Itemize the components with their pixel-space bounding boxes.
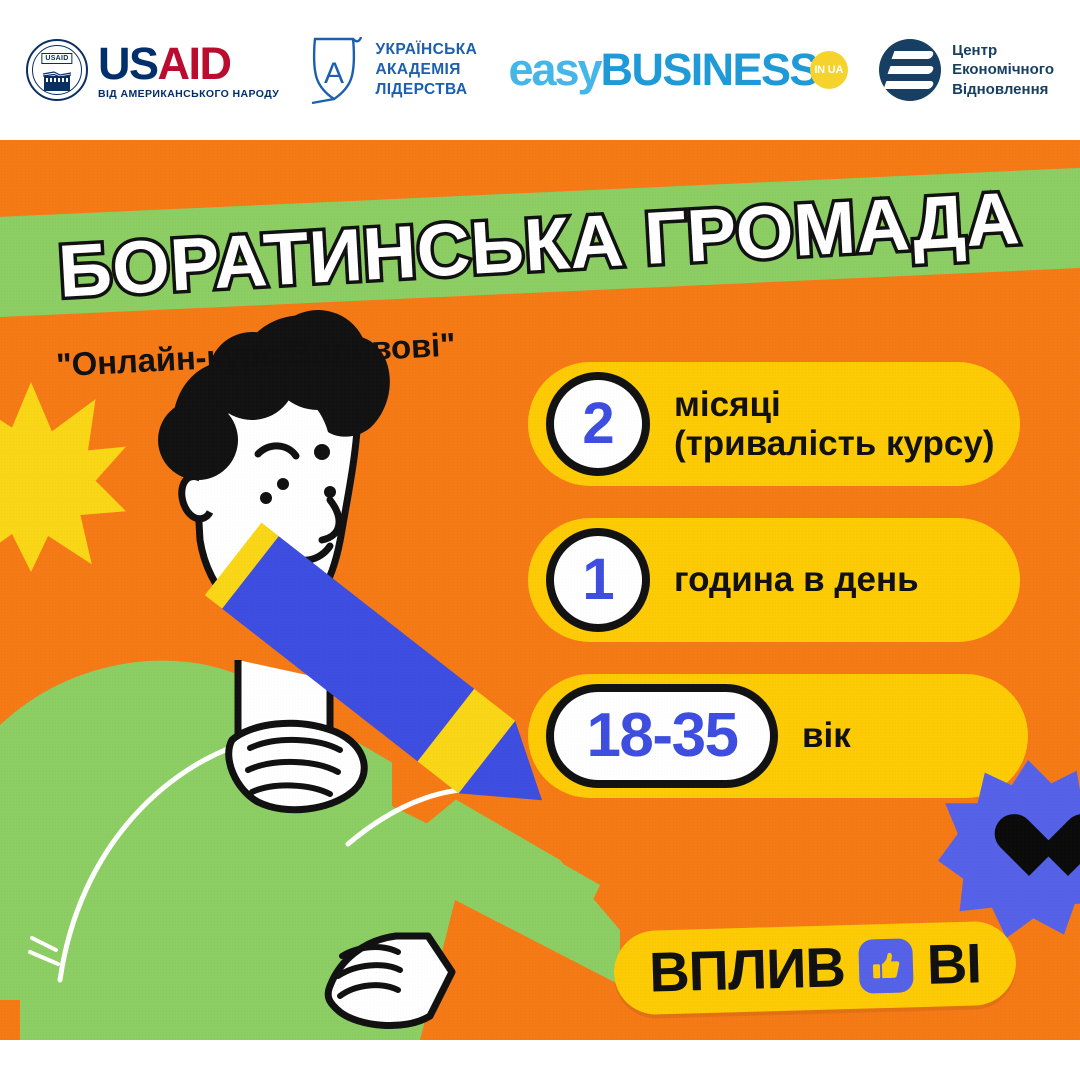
cer-wordmark: Центр Економічного Відновлення: [952, 41, 1054, 100]
duration-text: місяці (тривалість курсу): [674, 385, 995, 463]
heart-icon: [994, 816, 1068, 884]
cer-logo: Центр Економічного Відновлення: [879, 39, 1054, 101]
info-pill-hours: 1 година в день: [528, 518, 1020, 642]
duration-badge: 2: [546, 372, 650, 476]
ual-logo: А УКРАЇНСЬКА АКАДЕМІЯ ЛІДЕРСТВА: [310, 35, 477, 105]
cer-mark-icon: [879, 39, 941, 101]
brand-word-1: ВПЛИВ: [648, 939, 845, 1000]
easybusiness-inua-badge: IN UA: [810, 51, 848, 89]
duration-line-2: (тривалість курсу): [674, 424, 995, 463]
poster-stage: БОРАТИНСЬКА ГРОМАДА "Онлайн-курс Впливов…: [0, 140, 1080, 1040]
hours-line-1: година в день: [674, 560, 919, 599]
info-pill-duration: 2 місяці (тривалість курсу): [528, 362, 1020, 486]
ual-wordmark: УКРАЇНСЬКА АКАДЕМІЯ ЛІДЕРСТВА: [375, 40, 477, 99]
svg-text:А: А: [324, 57, 344, 90]
easybusiness-word-business: BUSINESS: [601, 50, 818, 91]
usaid-word-aid: AID: [158, 38, 231, 89]
cer-line-1: Центр: [952, 41, 1054, 61]
usaid-seal-label: USAID: [41, 53, 72, 64]
usaid-shield-icon: [44, 76, 70, 91]
age-badge-number: 18-35: [586, 705, 737, 767]
thumbs-up-icon: [858, 938, 913, 993]
usaid-tagline: ВІД АМЕРИКАНСЬКОГО НАРОДУ: [98, 89, 279, 100]
cer-line-2: Економічного: [952, 60, 1054, 80]
easybusiness-word-easy: easy: [508, 50, 600, 91]
age-line-1: вік: [802, 716, 851, 755]
age-badge: 18-35: [546, 684, 778, 788]
easybusiness-logo: easy BUSINESS IN UA: [508, 50, 847, 91]
vplyvovi-brand-badge: ВПЛИВ ВІ: [613, 920, 1017, 1015]
ual-line-3: ЛІДЕРСТВА: [375, 80, 477, 100]
brand-word-2: ВІ: [926, 935, 982, 992]
poster-root: USAID USAID ВІД АМЕРИКАНСЬКОГО НАРОДУ: [0, 0, 1080, 1080]
age-text: вік: [802, 716, 851, 755]
info-pill-age: 18-35 вік: [528, 674, 1028, 798]
usaid-word-us: US: [98, 38, 158, 89]
duration-line-1: місяці: [674, 385, 995, 424]
ual-shield-icon: А: [310, 35, 364, 105]
hours-badge-number: 1: [582, 551, 613, 609]
hours-text: година в день: [674, 560, 919, 599]
info-pill-list: 2 місяці (тривалість курсу) 1 година в д…: [528, 362, 1028, 830]
usaid-wordmark: USAID ВІД АМЕРИКАНСЬКОГО НАРОДУ: [98, 41, 279, 100]
hours-badge: 1: [546, 528, 650, 632]
cer-line-3: Відновлення: [952, 80, 1054, 100]
partner-logo-bar: USAID USAID ВІД АМЕРИКАНСЬКОГО НАРОДУ: [0, 0, 1080, 140]
ual-line-1: УКРАЇНСЬКА: [375, 40, 477, 60]
duration-badge-number: 2: [582, 395, 613, 453]
usaid-logo: USAID USAID ВІД АМЕРИКАНСЬКОГО НАРОДУ: [26, 39, 279, 101]
usaid-seal-icon: USAID: [26, 39, 88, 101]
ual-line-2: АКАДЕМІЯ: [375, 60, 477, 80]
